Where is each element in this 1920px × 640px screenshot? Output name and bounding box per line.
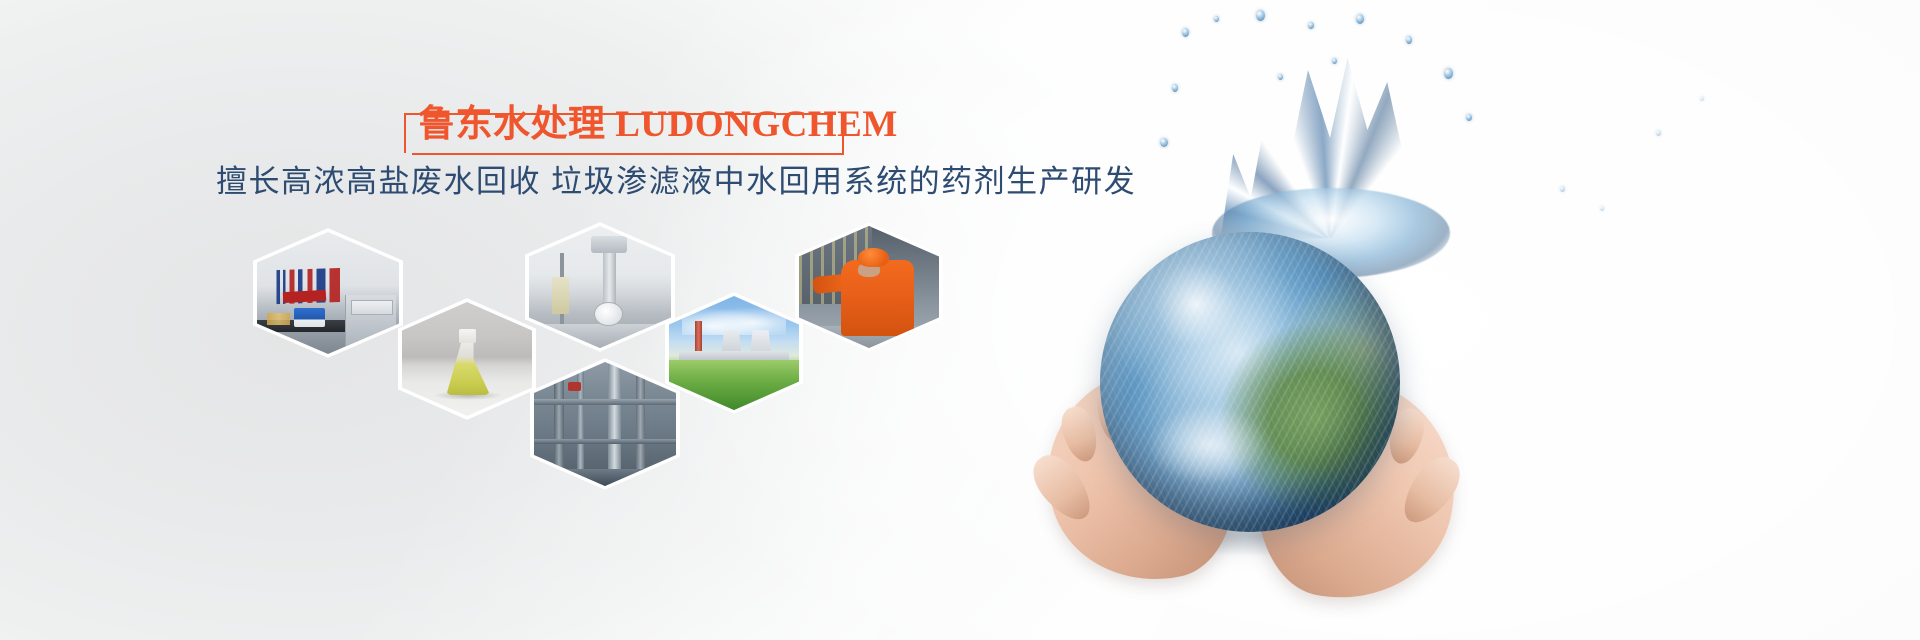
wall-slogan-underline [282,289,325,302]
pipe-vertical [608,362,621,486]
lab-cabinet-panel [351,300,394,315]
lab-machine [294,308,325,328]
hex-tile-equipment[interactable] [525,222,675,352]
plant-floor [534,469,676,486]
brand-title-block: 鲁东水处理 LUDONGCHEM [404,103,844,155]
water-droplet [1560,186,1565,192]
pipe-vertical [577,362,584,486]
hex-tile-laboratory[interactable] [253,228,403,358]
green-field [669,360,799,410]
hex-tile-worker[interactable] [795,222,943,352]
flask-neck [459,329,476,343]
water-droplet [1600,206,1604,211]
hex-tile-power-plant[interactable] [665,292,803,414]
page-subtitle: 擅长高浓高盐废水回收 垃圾渗滤液中水回用系统的药剂生产研发 [216,160,1116,204]
round-bottom-flask [594,302,622,326]
hex-tile-piping[interactable] [530,358,680,490]
page-title: 鲁东水处理 LUDONGCHEM [418,101,898,149]
flask-body [446,336,490,395]
pipe-horizontal [534,399,676,405]
finger [1057,403,1103,466]
equipment-head [591,236,627,253]
hero-banner: 鲁东水处理 LUDONGCHEM 擅长高浓高盐废水回收 垃圾渗滤液中水回用系统的… [0,0,1920,640]
pipe-vertical [636,362,645,486]
lab-glassware [267,313,290,325]
pipe-horizontal [534,439,676,444]
water-droplet [1656,130,1661,136]
pipe-valve [568,382,581,391]
ambient-droplets [1000,0,1920,360]
equipment-bottle [552,277,569,314]
safety-helmet [858,248,889,268]
hex-tile-flask[interactable] [398,298,536,420]
globe-specular-highlight [1148,406,1268,484]
water-droplet [1700,96,1704,101]
